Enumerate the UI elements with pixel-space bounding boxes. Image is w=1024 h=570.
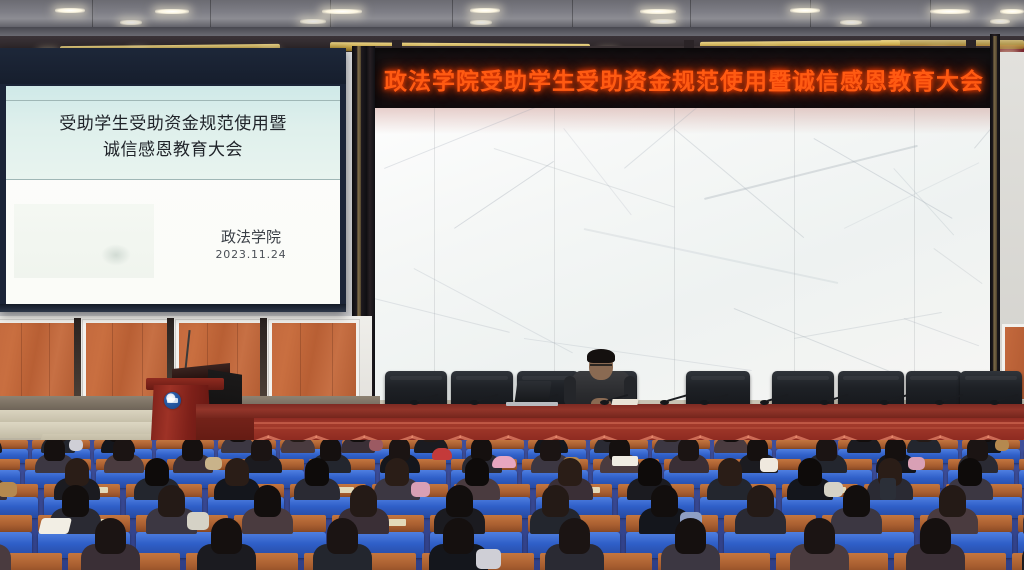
audience-person-head: [939, 485, 966, 517]
auditorium-photo: 政法学院受助学生受助资金规范使用暨诚信感恩教育大会 受助学生受助资金规范使用暨 …: [0, 0, 1024, 570]
audience-paper: [612, 456, 638, 466]
audience-person-head: [558, 458, 582, 486]
dais-chair: [451, 371, 513, 407]
audience-person-accent: [476, 549, 501, 569]
audience-person-head: [559, 518, 590, 554]
audience-person-head: [95, 518, 126, 554]
audience-person-accent: [411, 482, 430, 497]
podium-emblem-icon: [164, 392, 181, 409]
audience-desk: [0, 459, 20, 470]
audience-person-head: [798, 458, 822, 486]
laptop-screen: [514, 381, 551, 403]
dais-chair: [906, 371, 962, 407]
ceiling-seam: [572, 0, 573, 30]
ceiling-light-secondary: [840, 20, 862, 25]
audience-person-head: [920, 518, 951, 554]
audience-person-head: [804, 518, 835, 554]
screen-bottom-edge: [0, 304, 346, 312]
audience-seating: 78789121315: [0, 440, 1024, 570]
slide-image-placeholder: [14, 204, 154, 278]
ceiling-light: [470, 8, 500, 13]
slide-title-line2: 诚信感恩教育大会: [6, 138, 340, 163]
audience-person-head: [675, 518, 706, 554]
audience-person-head: [62, 485, 89, 517]
audience-person-head: [350, 485, 377, 517]
audience-desk: [0, 515, 32, 532]
audience-person-head: [540, 440, 561, 461]
ceiling-light: [640, 9, 676, 14]
audience-person-accent: [908, 457, 925, 470]
audience-person-head: [651, 485, 678, 517]
wall-panel: [0, 320, 78, 400]
audience-person-head: [44, 440, 65, 461]
ceiling-light-secondary: [650, 19, 676, 24]
audience-person-head: [446, 485, 473, 517]
audience-person-head: [65, 458, 89, 486]
marble-vein: [813, 138, 952, 219]
marble-vein: [933, 248, 982, 284]
audience-person-head: [113, 440, 134, 461]
backdrop-top-glow: [374, 108, 992, 134]
stage-right-column-trim: [993, 36, 997, 396]
audience-person-accent: [995, 440, 1009, 451]
marble-panel-seam: [914, 108, 915, 404]
slide-rule-bottom: [6, 179, 340, 180]
audience-person-head: [958, 458, 982, 486]
marble-vein: [374, 298, 510, 333]
marble-vein: [584, 228, 839, 284]
audience-person-accent: [0, 482, 17, 497]
audience-seat-tag: [386, 519, 406, 526]
ceiling-light: [55, 8, 85, 13]
marble-vein: [563, 128, 632, 215]
marble-vein: [734, 308, 901, 377]
ceiling-seam: [930, 0, 931, 30]
ceiling-seam: [452, 0, 453, 30]
ceiling-light: [930, 9, 970, 14]
slide-date: 2023.11.24: [186, 248, 316, 261]
ceiling-seam: [210, 0, 211, 30]
ceiling-light: [790, 8, 820, 13]
ceiling-light-secondary: [990, 19, 1010, 24]
slide-image-mark: [101, 244, 131, 266]
audience-person-head: [443, 518, 474, 554]
audience-pink-cap: [492, 456, 516, 468]
audience-phone: [880, 478, 896, 500]
audience-person-head: [320, 440, 341, 461]
audience-person-head: [254, 485, 281, 517]
marble-vein: [704, 145, 918, 200]
audience-white-garment: [760, 458, 778, 472]
dais-groove: [196, 422, 1024, 424]
ceiling-light-secondary: [120, 20, 142, 25]
marble-vein: [524, 338, 752, 371]
marble-panel-seam: [554, 108, 555, 404]
slide-rule-top: [6, 100, 340, 101]
audience-person-head: [843, 485, 870, 517]
audience-person-accent: [69, 440, 83, 451]
marble-panel-seam: [434, 108, 435, 404]
audience-person-head: [225, 458, 249, 486]
ceiling-seam: [690, 0, 691, 30]
audience-person-head: [145, 458, 169, 486]
projection-screen-frame: 受助学生受助资金规范使用暨 诚信感恩教育大会 政法学院 2023.11.24: [0, 48, 346, 312]
ceiling-light: [322, 9, 362, 14]
marble-vein: [454, 161, 554, 229]
audience-person-head: [542, 485, 569, 517]
audience-paper: [38, 518, 72, 534]
audience-person-head: [385, 458, 409, 486]
led-banner: 政法学院受助学生受助资金规范使用暨诚信感恩教育大会: [374, 46, 994, 110]
projection-screen: 受助学生受助资金规范使用暨 诚信感恩教育大会 政法学院 2023.11.24: [6, 86, 340, 304]
ceiling-light-secondary: [300, 19, 326, 24]
wall-panel-gap: [260, 318, 267, 398]
audience-person-head: [747, 485, 774, 517]
audience-person-head: [638, 458, 662, 486]
audience-person-head: [816, 440, 837, 461]
marble-vein: [844, 162, 979, 229]
audience-person-accent: [205, 457, 222, 470]
speaker-glasses-icon: [590, 364, 612, 369]
slide-organization: 政法学院: [186, 226, 316, 247]
speaker-hair: [587, 349, 615, 363]
wall-panel: [269, 320, 359, 400]
audience-red-cap: [432, 448, 452, 460]
marble-panel-seam: [794, 108, 795, 404]
dais-chair: [686, 371, 750, 407]
ceiling-light-secondary: [470, 20, 492, 25]
screen-top-edge: [0, 48, 346, 84]
marble-vein: [673, 128, 804, 238]
ceiling: [0, 0, 1024, 30]
table-papers: [611, 399, 638, 405]
ceiling-seam: [92, 0, 93, 30]
ceiling-seam: [810, 0, 811, 30]
dais-groove: [196, 427, 1024, 429]
audience-person-accent: [187, 512, 209, 530]
audience-person-head: [211, 518, 242, 554]
ceiling-seam: [330, 0, 331, 30]
audience-person-head: [182, 440, 203, 461]
led-banner-mount: [684, 40, 694, 48]
audience-person-accent: [369, 440, 383, 451]
wall-panel-gap: [74, 318, 81, 398]
audience-person-head: [251, 440, 272, 461]
ceiling-light: [155, 9, 189, 14]
audience-desk: [1019, 459, 1024, 470]
audience-person-head: [678, 440, 699, 461]
slide-title-line1: 受助学生受助资金规范使用暨: [6, 112, 340, 137]
marble-vein: [494, 148, 675, 208]
audience-person-head: [465, 458, 489, 486]
audience-person-head: [327, 518, 358, 554]
led-banner-text: 政法学院受助学生受助资金规范使用暨诚信感恩教育大会: [384, 62, 984, 96]
led-banner-mount: [966, 40, 976, 48]
dais-chair: [838, 371, 904, 407]
led-banner-mount: [392, 40, 402, 48]
speaker-left-arm: [564, 376, 576, 406]
audience-person-head: [305, 458, 329, 486]
laptop-base: [506, 402, 558, 406]
marble-vein: [794, 312, 942, 339]
stage-marble-backdrop: [374, 108, 992, 404]
audience-person-head: [718, 458, 742, 486]
ceiling-light: [1000, 9, 1024, 14]
audience-desk: [0, 440, 28, 449]
audience-person-accent: [824, 482, 843, 497]
audience-person-head: [158, 485, 185, 517]
